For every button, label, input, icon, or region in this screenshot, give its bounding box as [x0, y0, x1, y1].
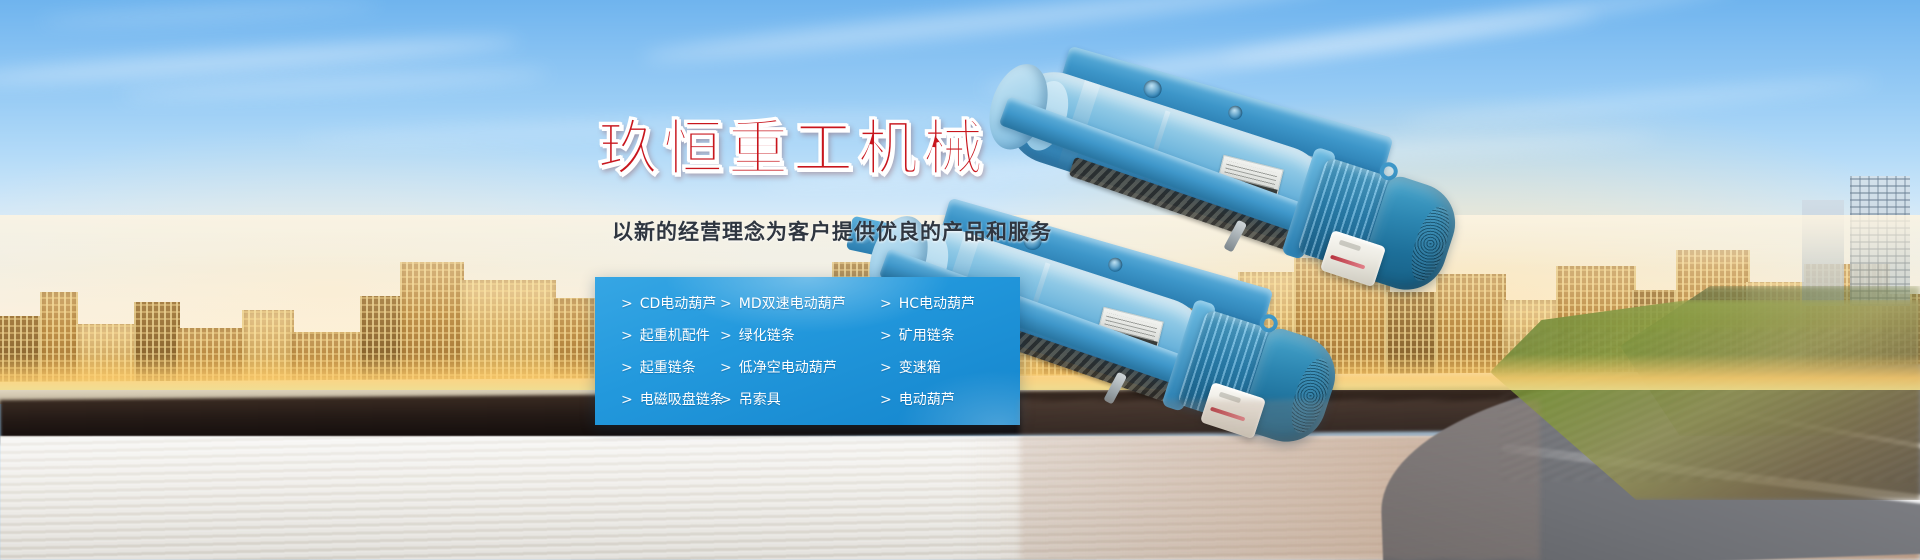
- chevron-right-icon: >: [720, 393, 732, 407]
- motor-fan-grill: [1284, 354, 1337, 437]
- product-link-label: 变速箱: [899, 361, 941, 375]
- product-link-magnetic-chuck-chain[interactable]: > 电磁吸盘链条: [595, 393, 720, 407]
- product-link-label: 吊索具: [739, 393, 781, 407]
- chevron-right-icon: >: [621, 361, 633, 375]
- product-link-hc-hoist[interactable]: > HC电动葫芦: [880, 297, 1020, 311]
- beam-hole: [1141, 78, 1163, 100]
- product-links-row: > 电磁吸盘链条 > 吊索具 > 电动葫芦: [595, 387, 1020, 413]
- product-link-label: 绿化链条: [739, 329, 795, 343]
- product-link-md-dual-speed-hoist[interactable]: > MD双速电动葫芦: [720, 297, 880, 311]
- product-link-low-headroom-hoist[interactable]: > 低净空电动葫芦: [720, 361, 880, 375]
- product-link-gearbox[interactable]: > 变速箱: [880, 361, 1020, 375]
- product-link-label: 起重链条: [640, 361, 696, 375]
- promo-banner: 玖恒重工机械 以新的经营理念为客户提供优良的产品和服务 > CD电动葫芦 > M…: [0, 0, 1920, 560]
- chevron-right-icon: >: [720, 329, 732, 343]
- chevron-right-icon: >: [880, 297, 892, 311]
- hoist-motor: [1295, 151, 1472, 304]
- page-title: 玖恒重工机械: [598, 119, 988, 179]
- chevron-right-icon: >: [621, 297, 633, 311]
- product-link-mining-chain[interactable]: > 矿用链条: [880, 329, 1020, 343]
- electric-hoist-product-image: [1020, 40, 1780, 460]
- product-link-label: 电动葫芦: [899, 393, 955, 407]
- product-link-label: HC电动葫芦: [899, 297, 975, 311]
- product-link-label: 矿用链条: [899, 329, 955, 343]
- product-links-row: > 起重机配件 > 绿化链条 > 矿用链条: [595, 323, 1020, 349]
- chevron-right-icon: >: [720, 361, 732, 375]
- product-link-greening-chain[interactable]: > 绿化链条: [720, 329, 880, 343]
- beam-hole: [1227, 104, 1244, 121]
- subtitle: 以新的经营理念为客户提供优良的产品和服务: [612, 222, 1052, 243]
- product-link-label: 起重机配件: [640, 329, 710, 343]
- product-links-row: > CD电动葫芦 > MD双速电动葫芦 > HC电动葫芦: [595, 291, 1020, 317]
- product-link-crane-parts[interactable]: > 起重机配件: [595, 329, 720, 343]
- chevron-right-icon: >: [720, 297, 732, 311]
- product-link-label: MD双速电动葫芦: [739, 297, 846, 311]
- chevron-right-icon: >: [621, 393, 633, 407]
- product-link-label: 低净空电动葫芦: [739, 361, 837, 375]
- motor-fan-grill: [1404, 202, 1457, 285]
- chevron-right-icon: >: [880, 329, 892, 343]
- product-link-label: 电磁吸盘链条: [640, 393, 724, 407]
- chevron-right-icon: >: [880, 393, 892, 407]
- hoist-motor: [1175, 303, 1352, 456]
- chevron-right-icon: >: [880, 361, 892, 375]
- product-link-electric-hoist[interactable]: > 电动葫芦: [880, 393, 1020, 407]
- product-link-cd-hoist[interactable]: > CD电动葫芦: [595, 297, 720, 311]
- product-links-panel: > CD电动葫芦 > MD双速电动葫芦 > HC电动葫芦 > 起重机配件: [595, 277, 1020, 425]
- product-link-lifting-chain[interactable]: > 起重链条: [595, 361, 720, 375]
- product-links-row: > 起重链条 > 低净空电动葫芦 > 变速箱: [595, 355, 1020, 381]
- chevron-right-icon: >: [621, 329, 633, 343]
- beam-hole: [1107, 256, 1124, 273]
- product-link-label: CD电动葫芦: [640, 297, 717, 311]
- product-link-slings[interactable]: > 吊索具: [720, 393, 880, 407]
